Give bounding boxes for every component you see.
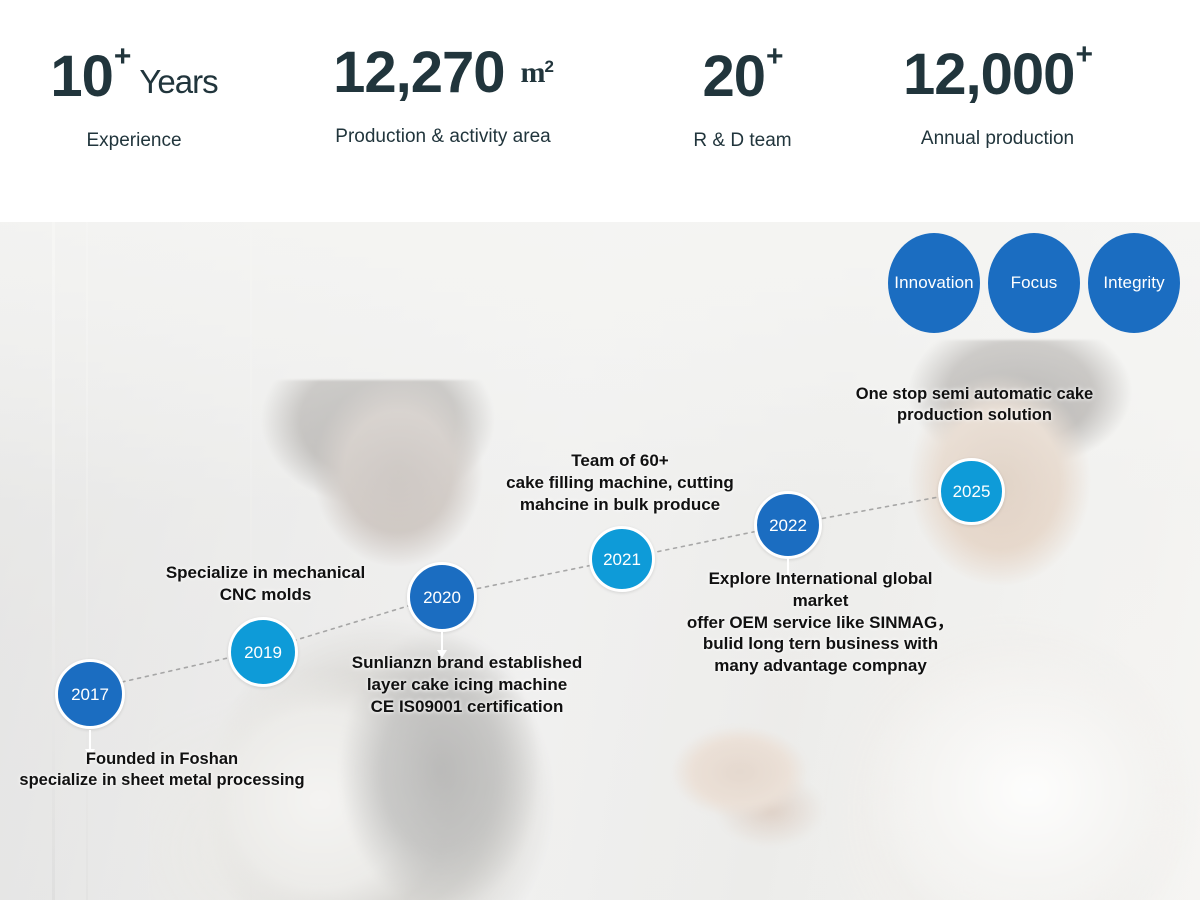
timeline-text-2021: Team of 60+ cake filling machine, cuttin…	[455, 450, 785, 515]
timeline-node-year: 2019	[244, 644, 282, 661]
stat-unit: m2	[520, 58, 552, 88]
timeline-node-year: 2021	[603, 551, 641, 568]
timeline-node-2017[interactable]: 2017	[55, 659, 125, 729]
stat-number: 12,270	[333, 44, 504, 102]
stat-label: Annual production	[865, 128, 1130, 150]
stat-plus-icon: +	[114, 42, 131, 72]
stat-label: Experience	[20, 130, 248, 152]
timeline-text-2025: One stop semi automatic cake production …	[832, 384, 1117, 426]
timeline-node-2021[interactable]: 2021	[589, 526, 655, 592]
stat-value-group: 12,270 m2	[283, 44, 603, 102]
timeline-text-2017: Founded in Foshan specialize in sheet me…	[0, 749, 342, 791]
stat-card-area: 12,270 m2 Production & activity area	[283, 44, 603, 148]
stat-plus-icon: +	[1075, 40, 1092, 70]
timeline-node-year: 2022	[769, 517, 807, 534]
stat-label: R & D team	[640, 130, 845, 152]
stat-number: 12,000	[903, 46, 1074, 104]
stat-card-experience: 10 + Years Experience	[20, 48, 248, 152]
stat-value-group: 12,000 +	[865, 46, 1130, 104]
stats-bar: 10 + Years Experience 12,270 m2 Producti…	[0, 0, 1200, 222]
timeline-node-year: 2025	[953, 483, 991, 500]
timeline-node-year: 2020	[423, 589, 461, 606]
stat-label: Production & activity area	[283, 126, 603, 148]
company-timeline: 2017 Founded in Foshan specialize in she…	[0, 222, 1200, 900]
timeline-node-year: 2017	[71, 686, 109, 703]
timeline-node-2020[interactable]: 2020	[407, 562, 477, 632]
timeline-node-2025[interactable]: 2025	[938, 458, 1005, 525]
hero-photo-section: Innovation Focus Integrity 2017 Founded …	[0, 222, 1200, 900]
timeline-text-2022: Explore International global market offe…	[668, 568, 973, 677]
slide-root: 10 + Years Experience 12,270 m2 Producti…	[0, 0, 1200, 900]
timeline-node-2022[interactable]: 2022	[754, 491, 822, 559]
timeline-text-2020: Sunlianzn brand established layer cake i…	[312, 652, 622, 717]
stat-value-group: 20 +	[640, 48, 845, 106]
stat-card-rd-team: 20 + R & D team	[640, 48, 845, 152]
stat-unit-base: m	[520, 56, 544, 89]
timeline-text-2019: Specialize in mechanical CNC molds	[93, 562, 438, 606]
timeline-node-2019[interactable]: 2019	[228, 617, 298, 687]
stat-number: 10	[50, 48, 113, 106]
stat-value-group: 10 + Years	[20, 48, 248, 106]
stat-plus-icon: +	[766, 42, 783, 72]
stat-number: 20	[702, 48, 765, 106]
stat-card-annual-production: 12,000 + Annual production	[865, 46, 1130, 150]
stat-unit-superscript: 2	[544, 57, 552, 76]
stat-suffix: Years	[139, 65, 217, 98]
